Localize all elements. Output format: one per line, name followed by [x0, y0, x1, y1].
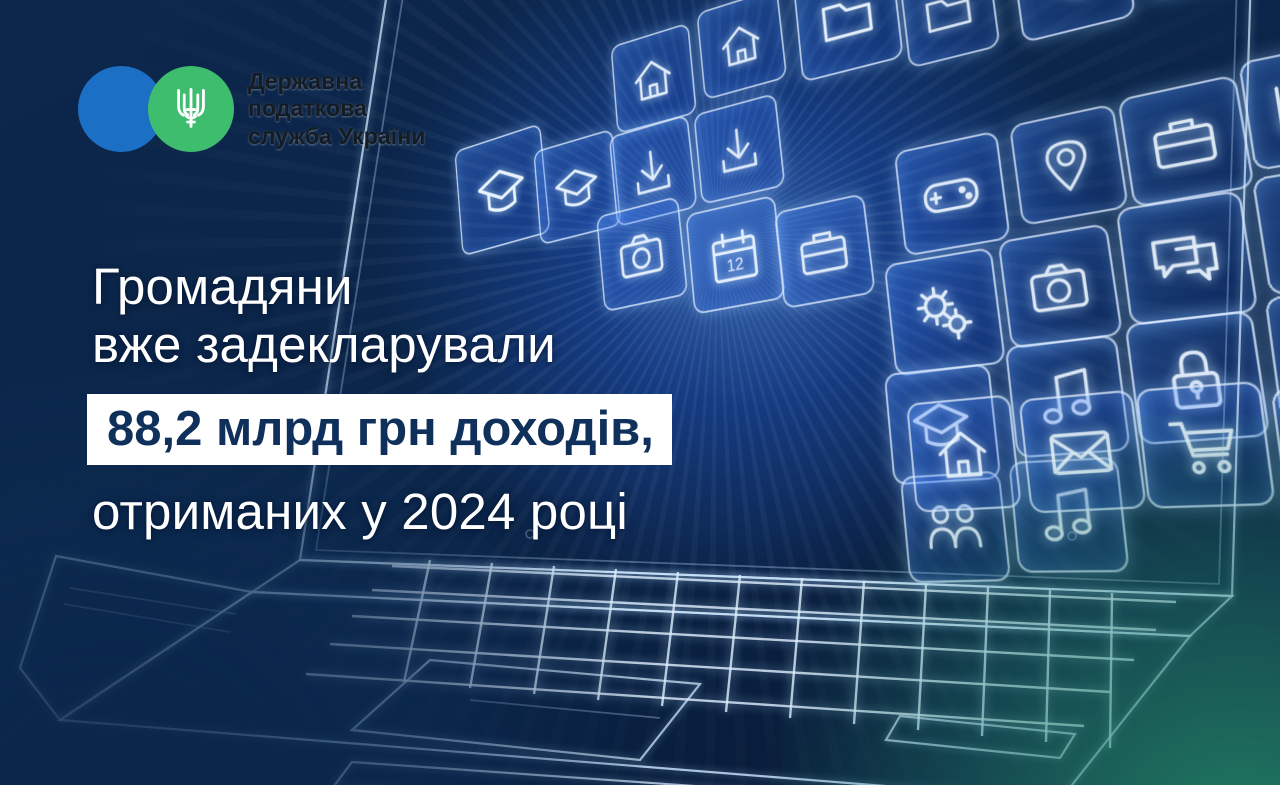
organization-name: Державна податкова служба України [248, 68, 426, 149]
organization-logo: Державна податкова служба України [78, 66, 426, 152]
poster-canvas: 1212 [0, 0, 1280, 785]
headline-line-2: вже задекларували [92, 316, 852, 374]
ukrainian-trident-icon [174, 87, 208, 131]
logo-marks [78, 66, 234, 152]
highlight-statistic-box: 88,2 млрд грн доходів, [87, 394, 672, 465]
highlight-statistic-text: 88,2 млрд грн доходів, [107, 403, 654, 455]
headline-line-1: Громадяни [92, 258, 852, 316]
bottom-right-green-glow [780, 415, 1280, 785]
green-circle-mark [148, 66, 234, 152]
headline-block: Громадяни вже задекларували 88,2 млрд гр… [92, 258, 852, 541]
headline-line-4: отриманих у 2024 році [92, 483, 852, 541]
